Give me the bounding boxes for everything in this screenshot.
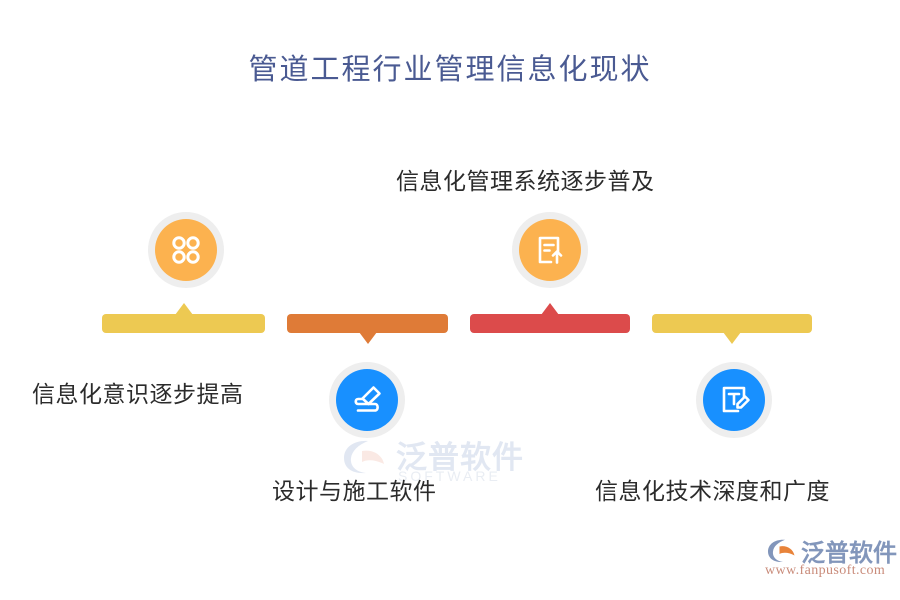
text-edit-icon	[716, 382, 752, 418]
corner-logo[interactable]: 泛普软件 www.fanpusoft.com	[765, 536, 887, 588]
step-4-icon-circle[interactable]	[696, 362, 772, 438]
slide-canvas: 管道工程行业管理信息化现状 泛普软件 SOFTWARE 信息化意识逐步提高	[0, 0, 900, 600]
step-1-icon-circle[interactable]	[148, 212, 224, 288]
step-3-icon-circle[interactable]	[512, 212, 588, 288]
step-1-label: 信息化意识逐步提高	[32, 375, 244, 409]
watermark-brand: 泛普软件	[396, 432, 524, 477]
fanpu-swoosh-icon	[765, 538, 798, 564]
step-1-bar-pointer-up	[175, 303, 193, 315]
step-2-icon-inner	[336, 369, 398, 431]
step-1-bar[interactable]	[102, 314, 265, 333]
document-upload-icon	[532, 232, 568, 268]
step-2-bar-pointer-down	[359, 332, 377, 344]
logo-url: www.fanpusoft.com	[765, 563, 885, 579]
step-3-bar[interactable]	[470, 314, 630, 333]
step-2-bar[interactable]	[287, 314, 448, 333]
design-pen-icon	[349, 382, 385, 418]
step-2-icon-circle[interactable]	[329, 362, 405, 438]
step-1-icon-inner	[155, 219, 217, 281]
step-3-label: 信息化管理系统逐步普及	[396, 162, 655, 196]
fanpu-swoosh-icon	[340, 438, 390, 476]
step-4-label: 信息化技术深度和广度	[595, 472, 830, 506]
step-3-bar-pointer-up	[541, 303, 559, 315]
step-4-bar[interactable]	[652, 314, 812, 333]
page-title: 管道工程行业管理信息化现状	[0, 46, 900, 88]
step-4-bar-pointer-down	[723, 332, 741, 344]
step-3-icon-inner	[519, 219, 581, 281]
step-4-icon-inner	[703, 369, 765, 431]
four-dots-grid-icon	[168, 232, 204, 268]
step-2-label: 设计与施工软件	[272, 472, 437, 506]
